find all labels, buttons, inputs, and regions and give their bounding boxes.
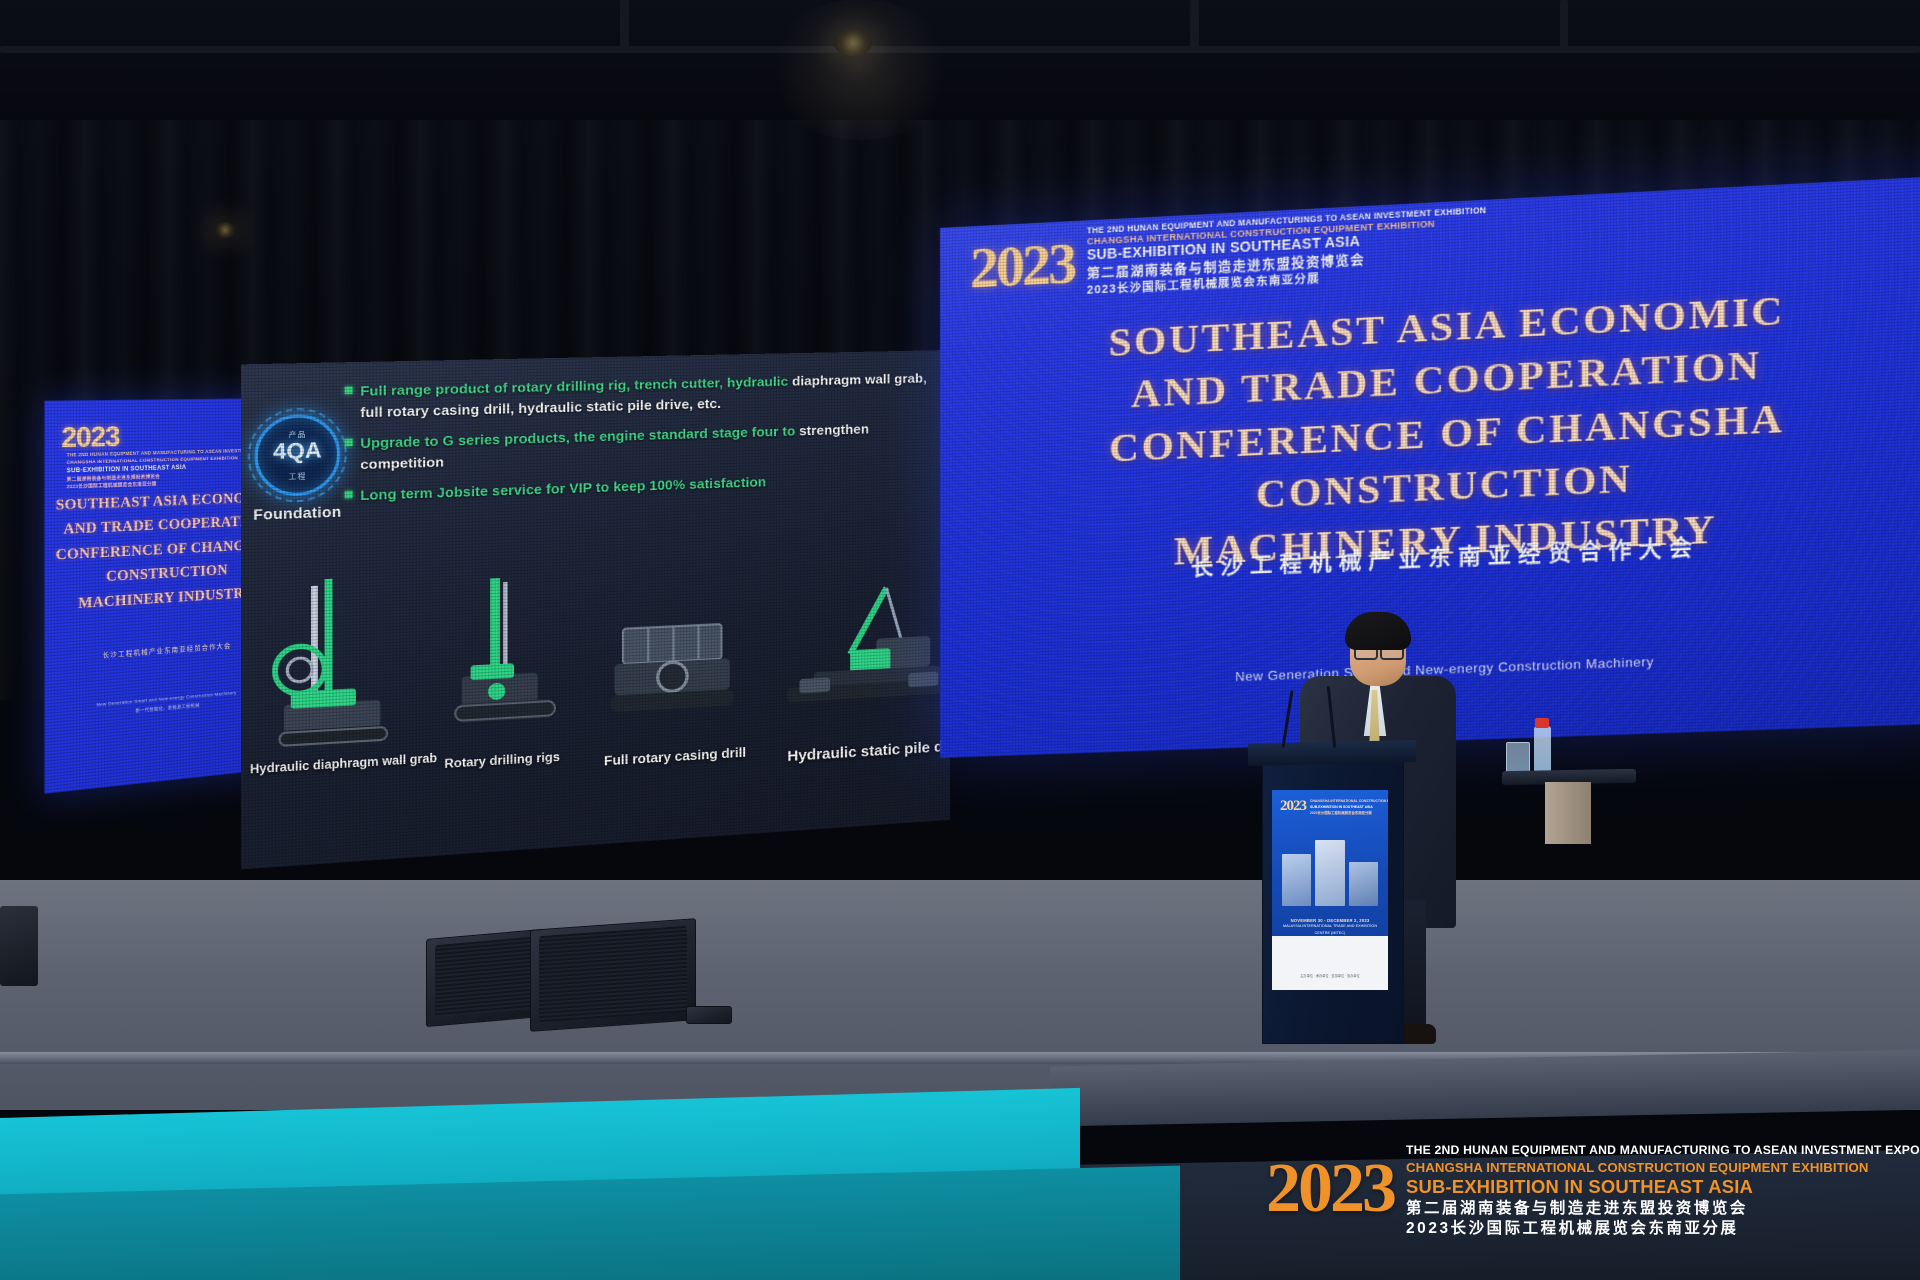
slide-bullet-list: Full range product of rotary drilling ri… — [345, 368, 942, 517]
badge-code: 4QA — [258, 439, 337, 464]
bullet-square-icon — [345, 491, 353, 499]
foundation-badge: 产品 4QA 工程 Foundation — [250, 413, 345, 523]
podium-white-strip: 主办单位 · 承办单位 · 支持单位 · 协办单位 — [1272, 936, 1388, 990]
hydraulic-static-pile-drive-icon — [779, 579, 950, 729]
watermark-line-3: SUB-EXHIBITION IN SOUTHEAST ASIA — [1406, 1176, 1920, 1199]
ceiling-truss-2 — [620, 0, 629, 52]
machine-hydraulic-static-pile-drive — [779, 579, 950, 734]
bullet-2-highlight: Upgrade to G series products, the engine… — [360, 423, 795, 451]
right-led-screen: 2023 THE 2ND HUNAN EQUIPMENT AND MANUFAC… — [940, 175, 1920, 758]
stage-monitor-2 — [530, 918, 696, 1032]
ceiling — [0, 0, 1920, 120]
stage-monitor-1 — [426, 929, 542, 1027]
floor-subwoofer — [0, 906, 38, 986]
machine-rotary-drilling-rig — [440, 575, 566, 758]
bullet-3-highlight: Long term Jobsite service for VIP to kee… — [360, 474, 766, 503]
podium-year: 2023 — [1280, 798, 1306, 815]
speaker-hair — [1345, 612, 1411, 650]
diaphragm-wall-grab-icon — [266, 576, 400, 764]
badge-cn-bottom: 工程 — [258, 470, 337, 483]
badge-caption: Foundation — [250, 503, 345, 523]
watermark-line-5: 2023长沙国际工程机械展览会东南亚分展 — [1406, 1219, 1920, 1239]
event-watermark: 2023 THE 2ND HUNAN EQUIPMENT AND MANUFAC… — [1266, 1140, 1906, 1239]
floor-box — [686, 1006, 732, 1024]
bullet-1-highlight: Full range product of rotary drilling ri… — [360, 374, 788, 400]
podium-logo-lines: CHANGSHA INTERNATIONAL CONSTRUCTION EQUI… — [1310, 799, 1388, 816]
podium-logo-line-1: CHANGSHA INTERNATIONAL CONSTRUCTION EQUI… — [1310, 799, 1388, 805]
spotlight-2 — [214, 222, 236, 238]
machine-full-rotary-casing-drill — [604, 617, 740, 743]
podium-photo-strip — [1282, 832, 1378, 906]
spotlight-1 — [834, 30, 872, 56]
podium-logo-line-3: 2023长沙国际工程机械展览会东南亚分展 — [1310, 811, 1388, 817]
rotary-drilling-rig-icon — [440, 575, 566, 753]
podium-venue-1: MALAYSIA INTERNATIONAL TRADE AND EXHIBIT… — [1278, 923, 1382, 937]
watermark-line-2: CHANGSHA INTERNATIONAL CONSTRUCTION EQUI… — [1406, 1159, 1920, 1176]
watermark-line-1: THE 2ND HUNAN EQUIPMENT AND MANUFACTURIN… — [1406, 1142, 1920, 1159]
podium-front-screen: 2023 CHANGSHA INTERNATIONAL CONSTRUCTION… — [1272, 790, 1388, 990]
side-table-base — [1545, 782, 1591, 844]
ceiling-truss-4 — [1560, 0, 1568, 48]
left-screen-logo: 2023 THE 2ND HUNAN EQUIPMENT AND MANUFAC… — [61, 420, 269, 491]
watermark-line-4: 第二届湖南装备与制造走进东盟投资博览会 — [1406, 1199, 1920, 1219]
bullet-square-icon — [345, 387, 353, 395]
ceiling-truss-1 — [0, 46, 1920, 53]
quality-ring-icon: 产品 4QA 工程 — [254, 413, 340, 497]
slide-bullet-1: Full range product of rotary drilling ri… — [345, 368, 942, 424]
podium-photo-3 — [1349, 862, 1378, 906]
slide-bullet-2: Upgrade to G series products, the engine… — [345, 417, 942, 476]
podium-photo-2 — [1315, 840, 1344, 906]
machine-diaphragm-wall-grab — [266, 576, 400, 769]
full-rotary-casing-drill-icon — [604, 617, 740, 737]
podium-organizers: 主办单位 · 承办单位 · 支持单位 · 协办单位 — [1278, 973, 1382, 980]
right-screen-year: 2023 — [970, 234, 1074, 297]
center-presentation-screen: 产品 4QA 工程 Foundation Full range product … — [241, 350, 950, 870]
podium-photo-1 — [1282, 854, 1311, 906]
ceiling-truss-3 — [1190, 0, 1199, 50]
bottle-cap — [1535, 718, 1549, 728]
water-bottle — [1534, 726, 1551, 774]
left-screen-year: 2023 — [61, 423, 119, 453]
conference-stage-photo: 2023 THE 2ND HUNAN EQUIPMENT AND MANUFAC… — [0, 0, 1920, 1280]
bullet-square-icon — [345, 439, 353, 447]
watermark-year: 2023 — [1266, 1157, 1394, 1221]
